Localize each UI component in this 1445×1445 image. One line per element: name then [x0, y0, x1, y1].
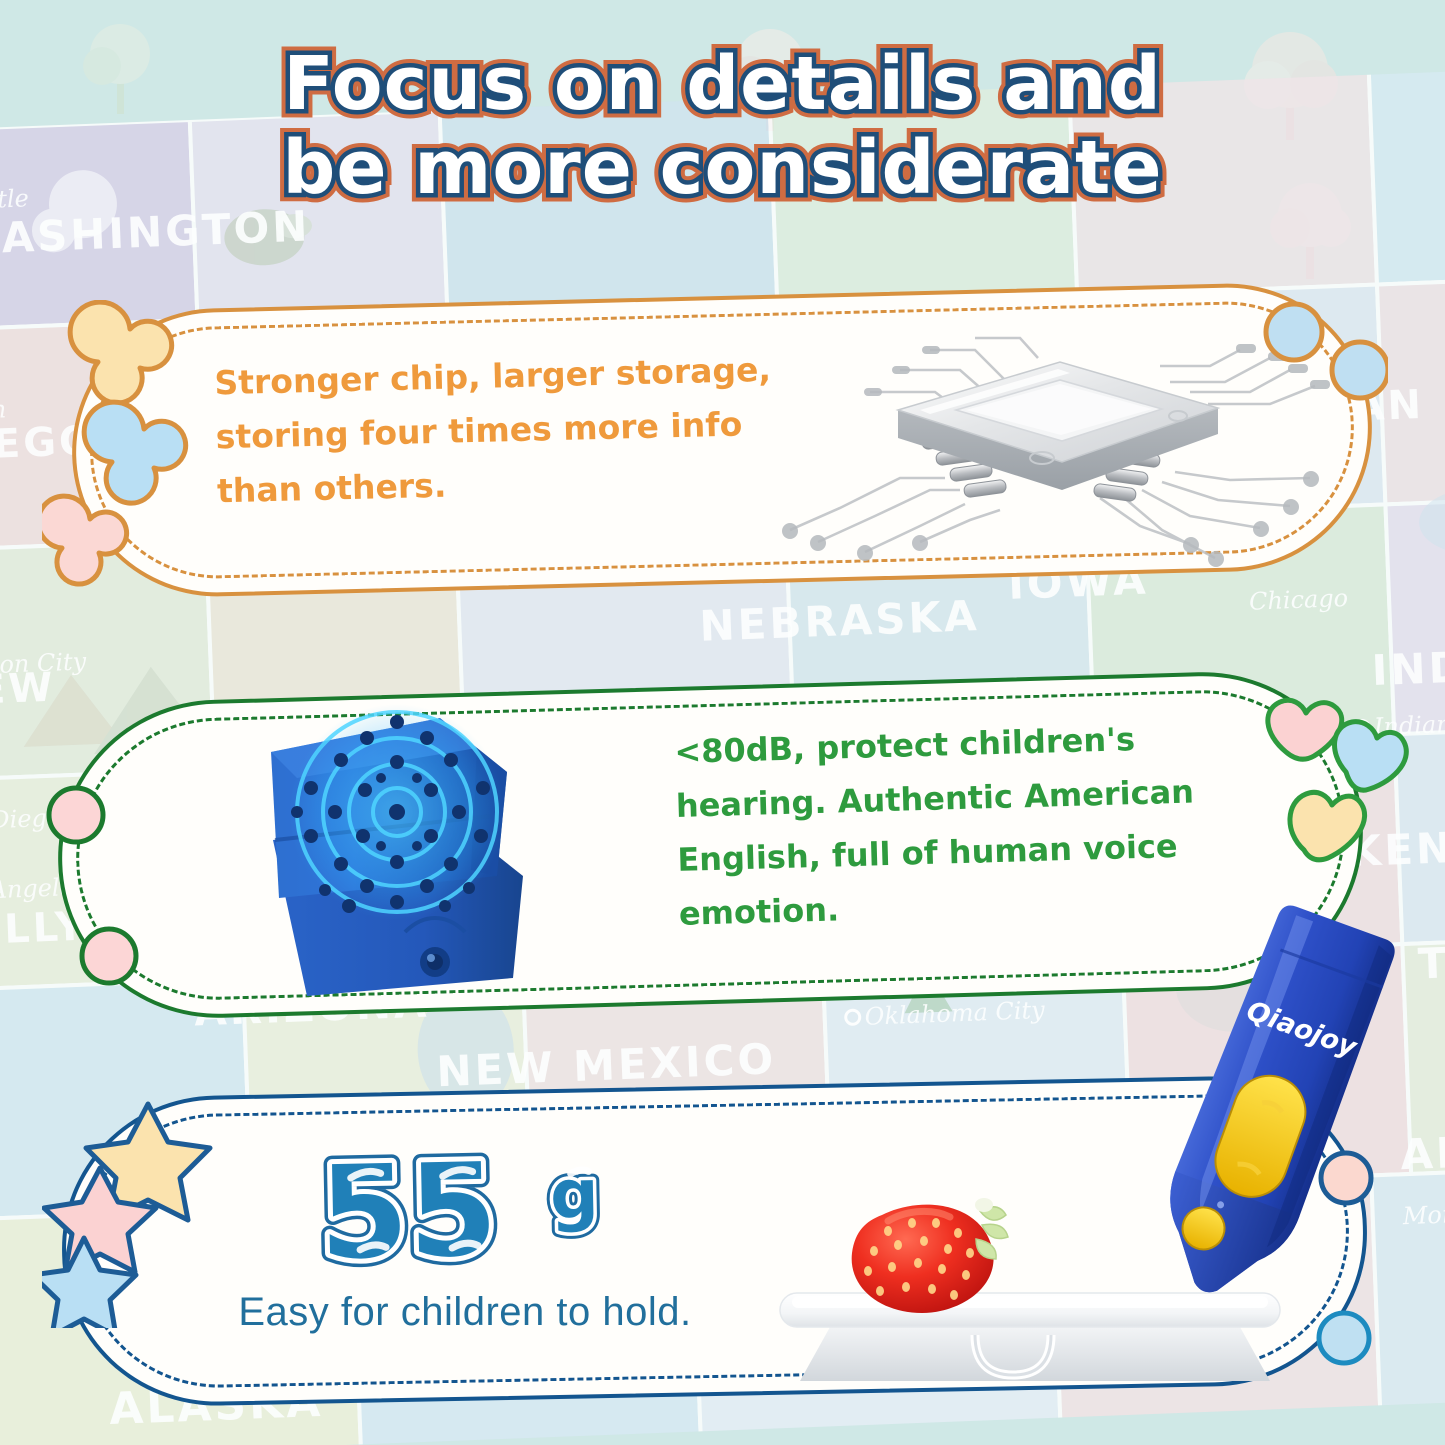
speaker-module-image — [245, 700, 575, 1000]
reading-pen-image: Qiaojoy — [1130, 900, 1410, 1320]
svg-text:INDIANA: INDIANA — [1371, 638, 1445, 696]
svg-text:Seattle: Seattle — [0, 184, 29, 215]
weight-value-fill: 55 — [318, 1145, 499, 1282]
marketing-graphic: .st{stroke:#ffffff;stroke-width:4;} .nm{… — [0, 0, 1445, 1445]
svg-text:Indianapolis: Indianapolis — [1372, 707, 1445, 741]
svg-text:Chicago: Chicago — [1249, 584, 1349, 616]
card-weight-caption: Easy for children to hold. — [185, 1290, 745, 1335]
weight-unit-fill: g — [549, 1155, 599, 1235]
card-chip-text: Stronger chip, larger storage, storing f… — [214, 341, 838, 518]
cpu-chip-image — [770, 330, 1330, 570]
weight-value-graphic: 55 55 55 g g g — [314, 1145, 696, 1282]
svg-text:Salem: Salem — [0, 395, 7, 426]
svg-text:San Diego: San Diego — [0, 803, 62, 836]
